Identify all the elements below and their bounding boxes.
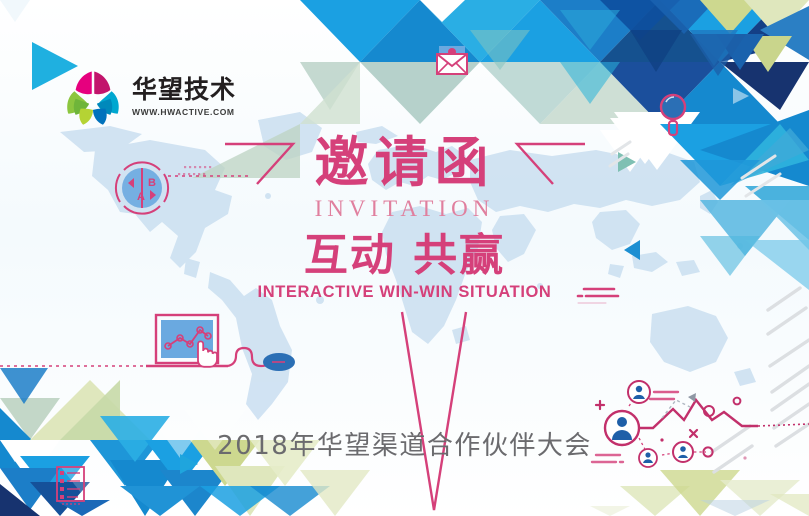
angle-bracket-right-icon (513, 140, 587, 186)
bottom-right-triangles (590, 470, 809, 516)
headline-title-en: INVITATION (0, 196, 809, 222)
angle-bracket-left-icon (223, 140, 297, 186)
company-website: WWW.HWACTIVE.COM (132, 107, 236, 117)
company-name: 华望技术 (132, 77, 236, 103)
cursor-hand-icon (198, 341, 217, 366)
event-title: 2018年华望渠道合作伙伴大会 (0, 425, 809, 462)
brand-logo-block: 华望技术 WWW.HWACTIVE.COM (62, 64, 236, 126)
magnifier-icon (661, 95, 685, 135)
invitation-poster: A B (0, 0, 809, 516)
headline-title-cn: 邀请函 (315, 136, 495, 190)
slogan-cn: 互动 共赢 (0, 232, 809, 280)
checklist-icon (57, 467, 84, 504)
pink-dash-small-right (650, 392, 678, 399)
headline-row: 邀请函 (0, 136, 809, 190)
v-chevron-outline (402, 312, 466, 510)
laptop-chart-icon (146, 315, 295, 371)
five-petal-flower-logo (62, 64, 124, 126)
envelope-icon (437, 46, 467, 74)
computer-mouse-icon (263, 353, 295, 371)
slogan-en: INTERACTIVE WIN-WIN SITUATION (0, 283, 809, 302)
top-left-mini-triangles (0, 0, 30, 22)
